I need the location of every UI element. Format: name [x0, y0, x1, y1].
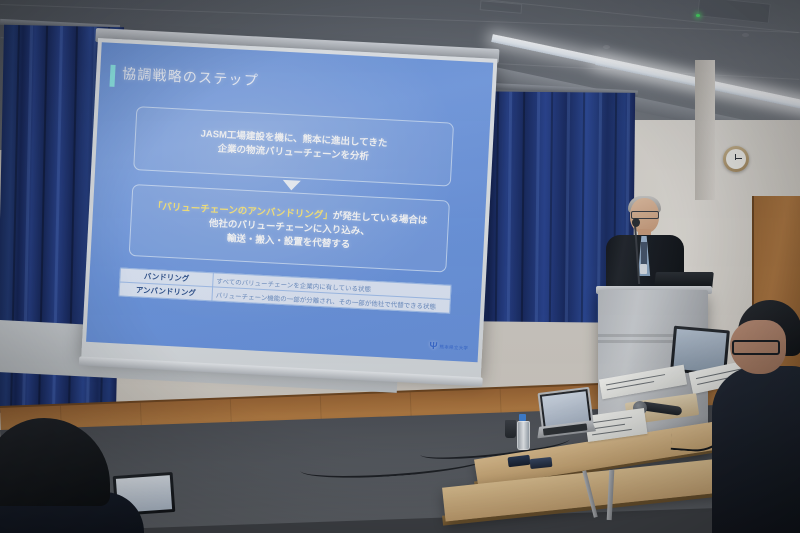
- name-badge: [640, 264, 647, 274]
- down-arrow-icon: [282, 180, 300, 191]
- slide-content: 協調戦略のステップ JASM工場建設を機に、熊本に進出してきた 企業の物流バリュ…: [86, 42, 493, 362]
- presentation-room-photo: 協調戦略のステップ JASM工場建設を機に、熊本に進出してきた 企業の物流バリュ…: [0, 0, 800, 533]
- projection-screen: 協調戦略のステップ JASM工場建設を機に、熊本に進出してきた 企業の物流バリュ…: [81, 38, 497, 378]
- glasses-icon: [732, 340, 780, 355]
- bottle-cap: [519, 414, 526, 421]
- water-bottle[interactable]: [517, 414, 528, 448]
- smoke-detector-icon: [603, 45, 610, 49]
- audience-member-right: [716, 300, 800, 533]
- audience-member-left: [0, 418, 134, 533]
- wall-pillar: [695, 60, 715, 200]
- slide-box-primary: JASM工場建設を機に、熊本に進出してきた 企業の物流バリューチェーンを分析: [133, 106, 454, 187]
- logo-mark-icon: Ψ: [429, 341, 438, 352]
- title-accent-bar: [109, 65, 115, 87]
- audience-hair: [0, 418, 110, 506]
- audience-body: [712, 366, 800, 533]
- wall-clock: [723, 146, 749, 172]
- microphone-icon: [632, 218, 640, 227]
- attendee-laptop[interactable]: [534, 387, 595, 437]
- logo-text: 熊本県立大学: [439, 344, 468, 351]
- smoke-detector-icon: [742, 33, 749, 37]
- organization-logo: Ψ 熊本県立大学: [429, 341, 468, 354]
- slide-title: 協調戦略のステップ: [122, 63, 260, 90]
- status-led-indicator: [696, 14, 700, 17]
- drinking-cup[interactable]: [505, 420, 516, 438]
- glossary-table: バンドリング すべてのバリューチェーンを企業内に有している状態 アンバンドリング…: [119, 267, 452, 313]
- slide-box-secondary: 「バリューチェーンのアンバンドリング」が発生している場合は 他社のバリューチェー…: [129, 184, 450, 273]
